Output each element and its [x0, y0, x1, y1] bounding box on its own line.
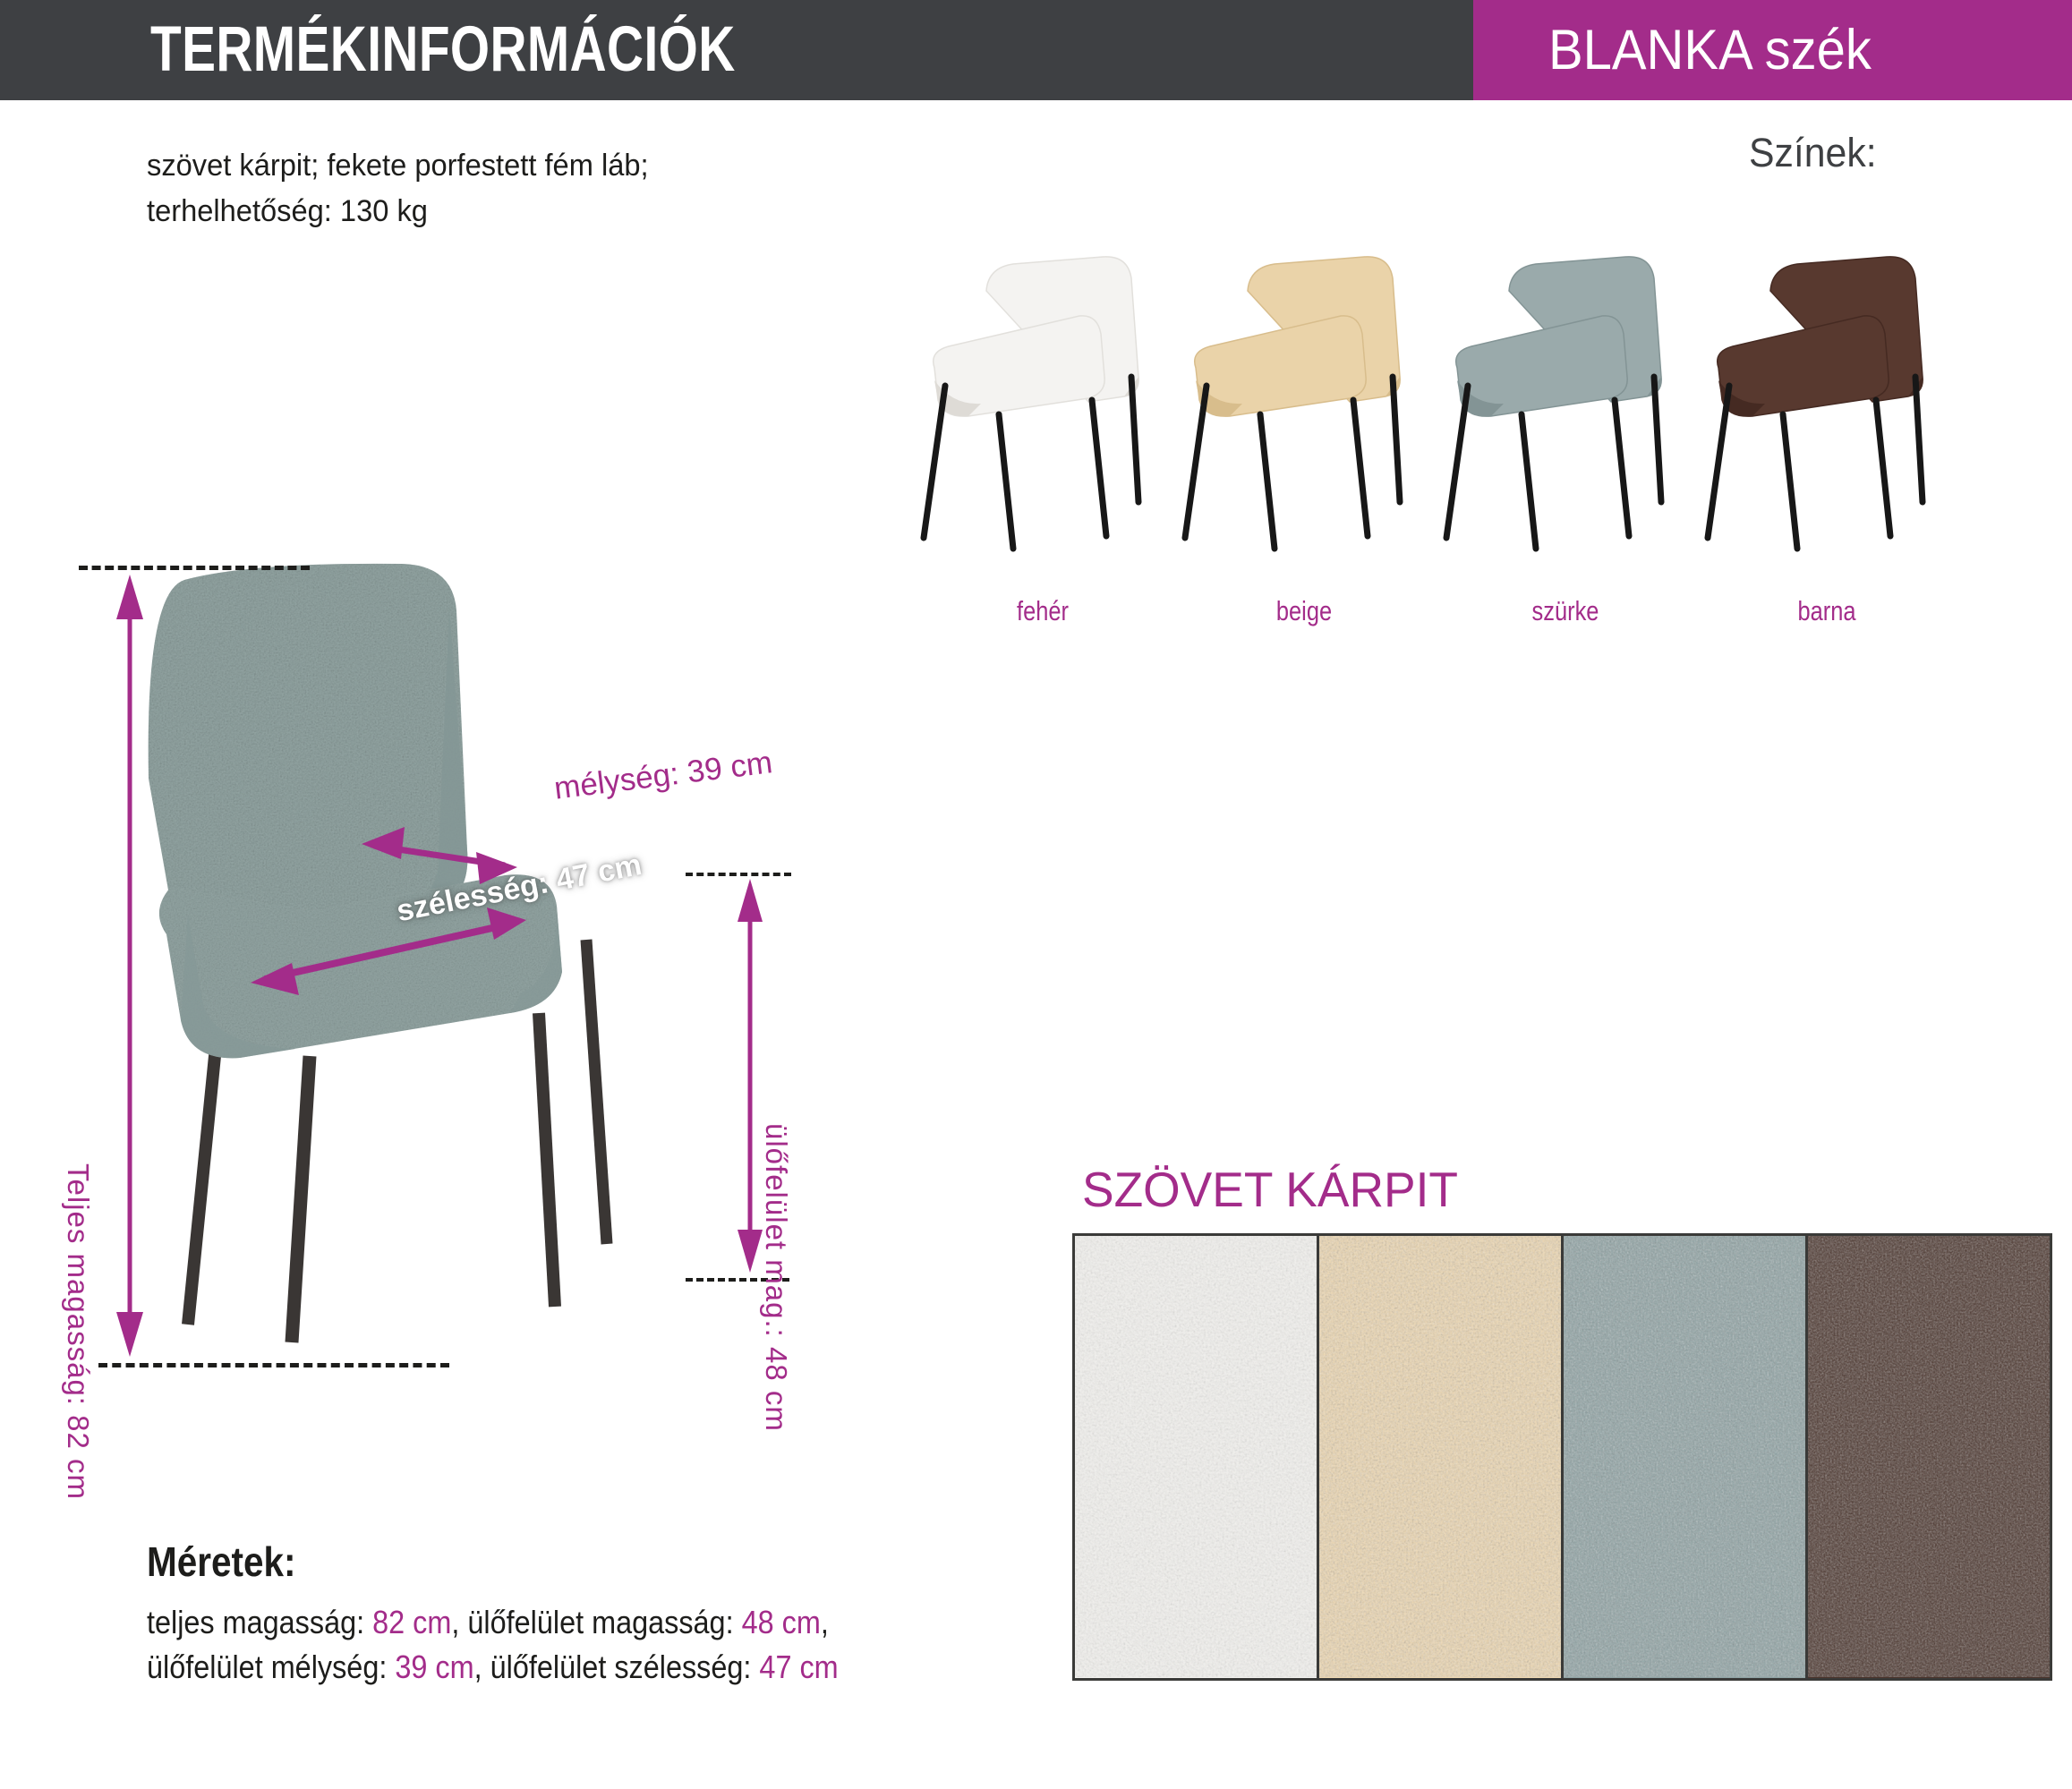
dimensions-line-2: ülőfelület mélység: 39 cm, ülőfelület sz…: [147, 1648, 839, 1686]
total-height-label: teljes magasság:: [147, 1604, 364, 1640]
seat-depth-value: 39 cm: [395, 1648, 473, 1685]
chair-thumbnail-icon: [1697, 201, 1957, 559]
seat-width-label: ülőfelület szélesség:: [490, 1648, 752, 1685]
page-title: TERMÉKINFORMÁCIÓK: [150, 10, 736, 90]
color-variant-beige[interactable]: beige: [1174, 201, 1434, 559]
sep: ,: [821, 1604, 829, 1640]
dimension-diagram: Teljes magasság: 82 cm ülőfelület mag.: …: [0, 537, 895, 1414]
seat-width-value: 47 cm: [759, 1648, 838, 1685]
sep: ,: [474, 1648, 490, 1685]
color-variant-label: barna: [1720, 595, 1933, 627]
fabric-heading: SZÖVET KÁRPIT: [1082, 1161, 1458, 1218]
spec-line-1: szövet kárpit; fekete porfestett fém láb…: [147, 143, 649, 189]
color-variant-szürke[interactable]: szürke: [1436, 201, 1695, 559]
color-variant-label: beige: [1198, 595, 1411, 627]
seat-depth-label: ülőfelület mélység:: [147, 1648, 387, 1685]
product-info-sheet: TERMÉKINFORMÁCIÓK BLANKA szék szövet kár…: [0, 0, 2072, 1789]
fabric-swatch-strip: [1072, 1233, 2052, 1681]
fabric-swatch-barna[interactable]: [1805, 1236, 2050, 1678]
product-name: BLANKA szék: [1548, 13, 1872, 88]
total-height-value: 82 cm: [372, 1604, 451, 1640]
dimensions-line-1: teljes magasság: 82 cm, ülőfelület magas…: [147, 1604, 829, 1641]
guide-line-seat-top: [686, 873, 791, 876]
fabric-swatch-szürke[interactable]: [1561, 1236, 1805, 1678]
spec-line-2: terhelhetőség: 130 kg: [147, 189, 428, 234]
dimensions-heading: Méretek:: [147, 1538, 295, 1586]
label-total-height: Teljes magasság: 82 cm: [61, 1163, 95, 1500]
sep: ,: [451, 1604, 467, 1640]
seat-height-value: 48 cm: [742, 1604, 821, 1640]
fabric-swatch-beige[interactable]: [1317, 1236, 1561, 1678]
seat-height-label: ülőfelület magasság:: [467, 1604, 733, 1640]
color-variant-label: szürke: [1459, 595, 1672, 627]
guide-line-top: [79, 566, 310, 570]
fabric-swatch-fehér[interactable]: [1075, 1236, 1317, 1678]
colors-heading: Színek:: [1749, 130, 1877, 176]
color-variant-fehér[interactable]: fehér: [913, 201, 1172, 559]
color-variants-row: fehér: [913, 201, 1969, 622]
chair-thumbnail-icon: [913, 201, 1172, 559]
label-seat-height: ülőfelület mag.: 48 cm: [759, 1123, 793, 1432]
color-variant-label: fehér: [936, 595, 1149, 627]
chair-main-illustration: [134, 555, 707, 1414]
chair-thumbnail-icon: [1436, 201, 1695, 559]
guide-line-bottom: [98, 1363, 449, 1367]
color-variant-barna[interactable]: barna: [1697, 201, 1957, 559]
chair-thumbnail-icon: [1174, 201, 1434, 559]
page-header: TERMÉKINFORMÁCIÓK BLANKA szék: [0, 0, 2072, 100]
